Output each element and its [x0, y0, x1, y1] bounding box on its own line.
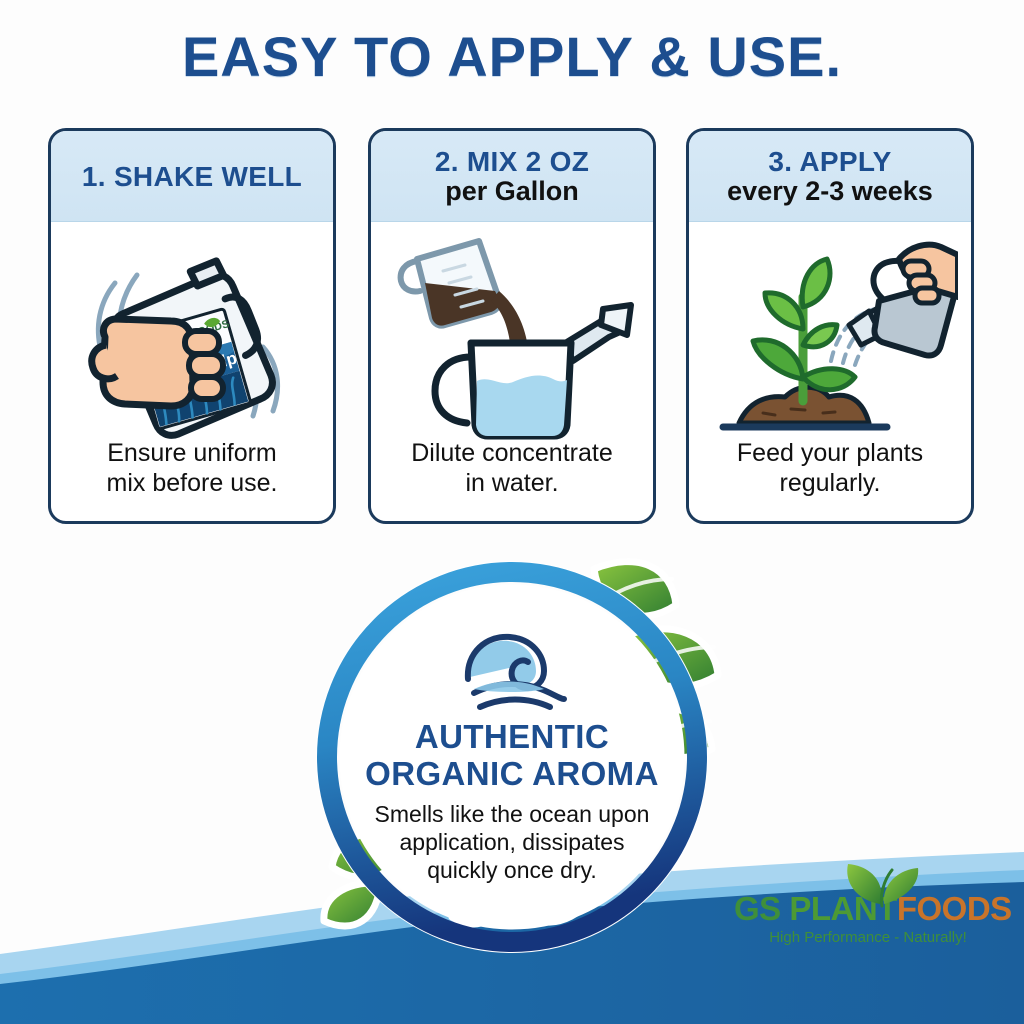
pour-concentrate-into-watering-can-icon: [387, 225, 637, 440]
brand-logo[interactable]: GS PLANTFOODS High Performance - Natural…: [734, 890, 1002, 946]
steps-row: 1. SHAKE WELL: [0, 128, 1024, 528]
badge-body: Smells like the ocean upon application, …: [362, 800, 662, 884]
watering-plant-icon: [703, 225, 958, 440]
badge-body-line3: quickly once dry.: [362, 856, 662, 884]
step-card-3-subheading: every 2-3 weeks: [727, 177, 933, 207]
step-card-2-heading: 2. MIX 2 OZ: [435, 147, 589, 176]
badge-title-line1: AUTHENTIC: [365, 719, 659, 756]
step-card-1-caption: Ensure uniform mix before use.: [51, 438, 333, 498]
logo-gs-text: GS: [734, 890, 789, 927]
step-card-3-illustration: [689, 222, 971, 442]
step-card-3-caption-line2: regularly.: [699, 468, 961, 498]
step-card-3[interactable]: 3. APPLY every 2-3 weeks: [686, 128, 974, 524]
page-title: EASY TO APPLY & USE.: [0, 24, 1024, 89]
step-card-2-header: 2. MIX 2 OZ per Gallon: [371, 131, 653, 222]
logo-leaves-icon: [836, 856, 928, 908]
step-card-2-caption: Dilute concentrate in water.: [371, 438, 653, 498]
step-card-3-heading: 3. APPLY: [768, 147, 891, 176]
badge-title: AUTHENTIC ORGANIC AROMA: [365, 719, 659, 793]
step-card-1-caption-line1: Ensure uniform: [61, 438, 323, 468]
step-card-1-heading: 1. SHAKE WELL: [82, 162, 302, 191]
step-card-2[interactable]: 2. MIX 2 OZ per Gallon: [368, 128, 656, 524]
badge-body-line1: Smells like the ocean upon: [362, 800, 662, 828]
badge-content: AUTHENTIC ORGANIC AROMA Smells like the …: [344, 589, 680, 925]
badge-body-line2: application, dissipates: [362, 828, 662, 856]
step-card-2-caption-line2: in water.: [381, 468, 643, 498]
logo-tagline: High Performance - Naturally!: [734, 929, 1002, 946]
hand-shaking-bottle-icon: GS PLANT FOODS Fish & Kelp: [67, 225, 317, 440]
badge-title-line2: ORGANIC AROMA: [365, 756, 659, 793]
step-card-2-illustration: [371, 222, 653, 442]
ocean-wave-icon: [452, 627, 572, 713]
step-card-1-header: 1. SHAKE WELL: [51, 131, 333, 222]
infographic-page: EASY TO APPLY & USE. 1. SHAKE WELL: [0, 0, 1024, 1024]
step-card-1-caption-line2: mix before use.: [61, 468, 323, 498]
step-card-3-header: 3. APPLY every 2-3 weeks: [689, 131, 971, 222]
step-card-3-caption: Feed your plants regularly.: [689, 438, 971, 498]
step-card-1-illustration: GS PLANT FOODS Fish & Kelp: [51, 222, 333, 442]
step-card-2-caption-line1: Dilute concentrate: [381, 438, 643, 468]
step-card-2-subheading: per Gallon: [445, 177, 579, 207]
step-card-1[interactable]: 1. SHAKE WELL: [48, 128, 336, 524]
authentic-organic-aroma-badge: AUTHENTIC ORGANIC AROMA Smells like the …: [312, 557, 712, 957]
step-card-3-caption-line1: Feed your plants: [699, 438, 961, 468]
